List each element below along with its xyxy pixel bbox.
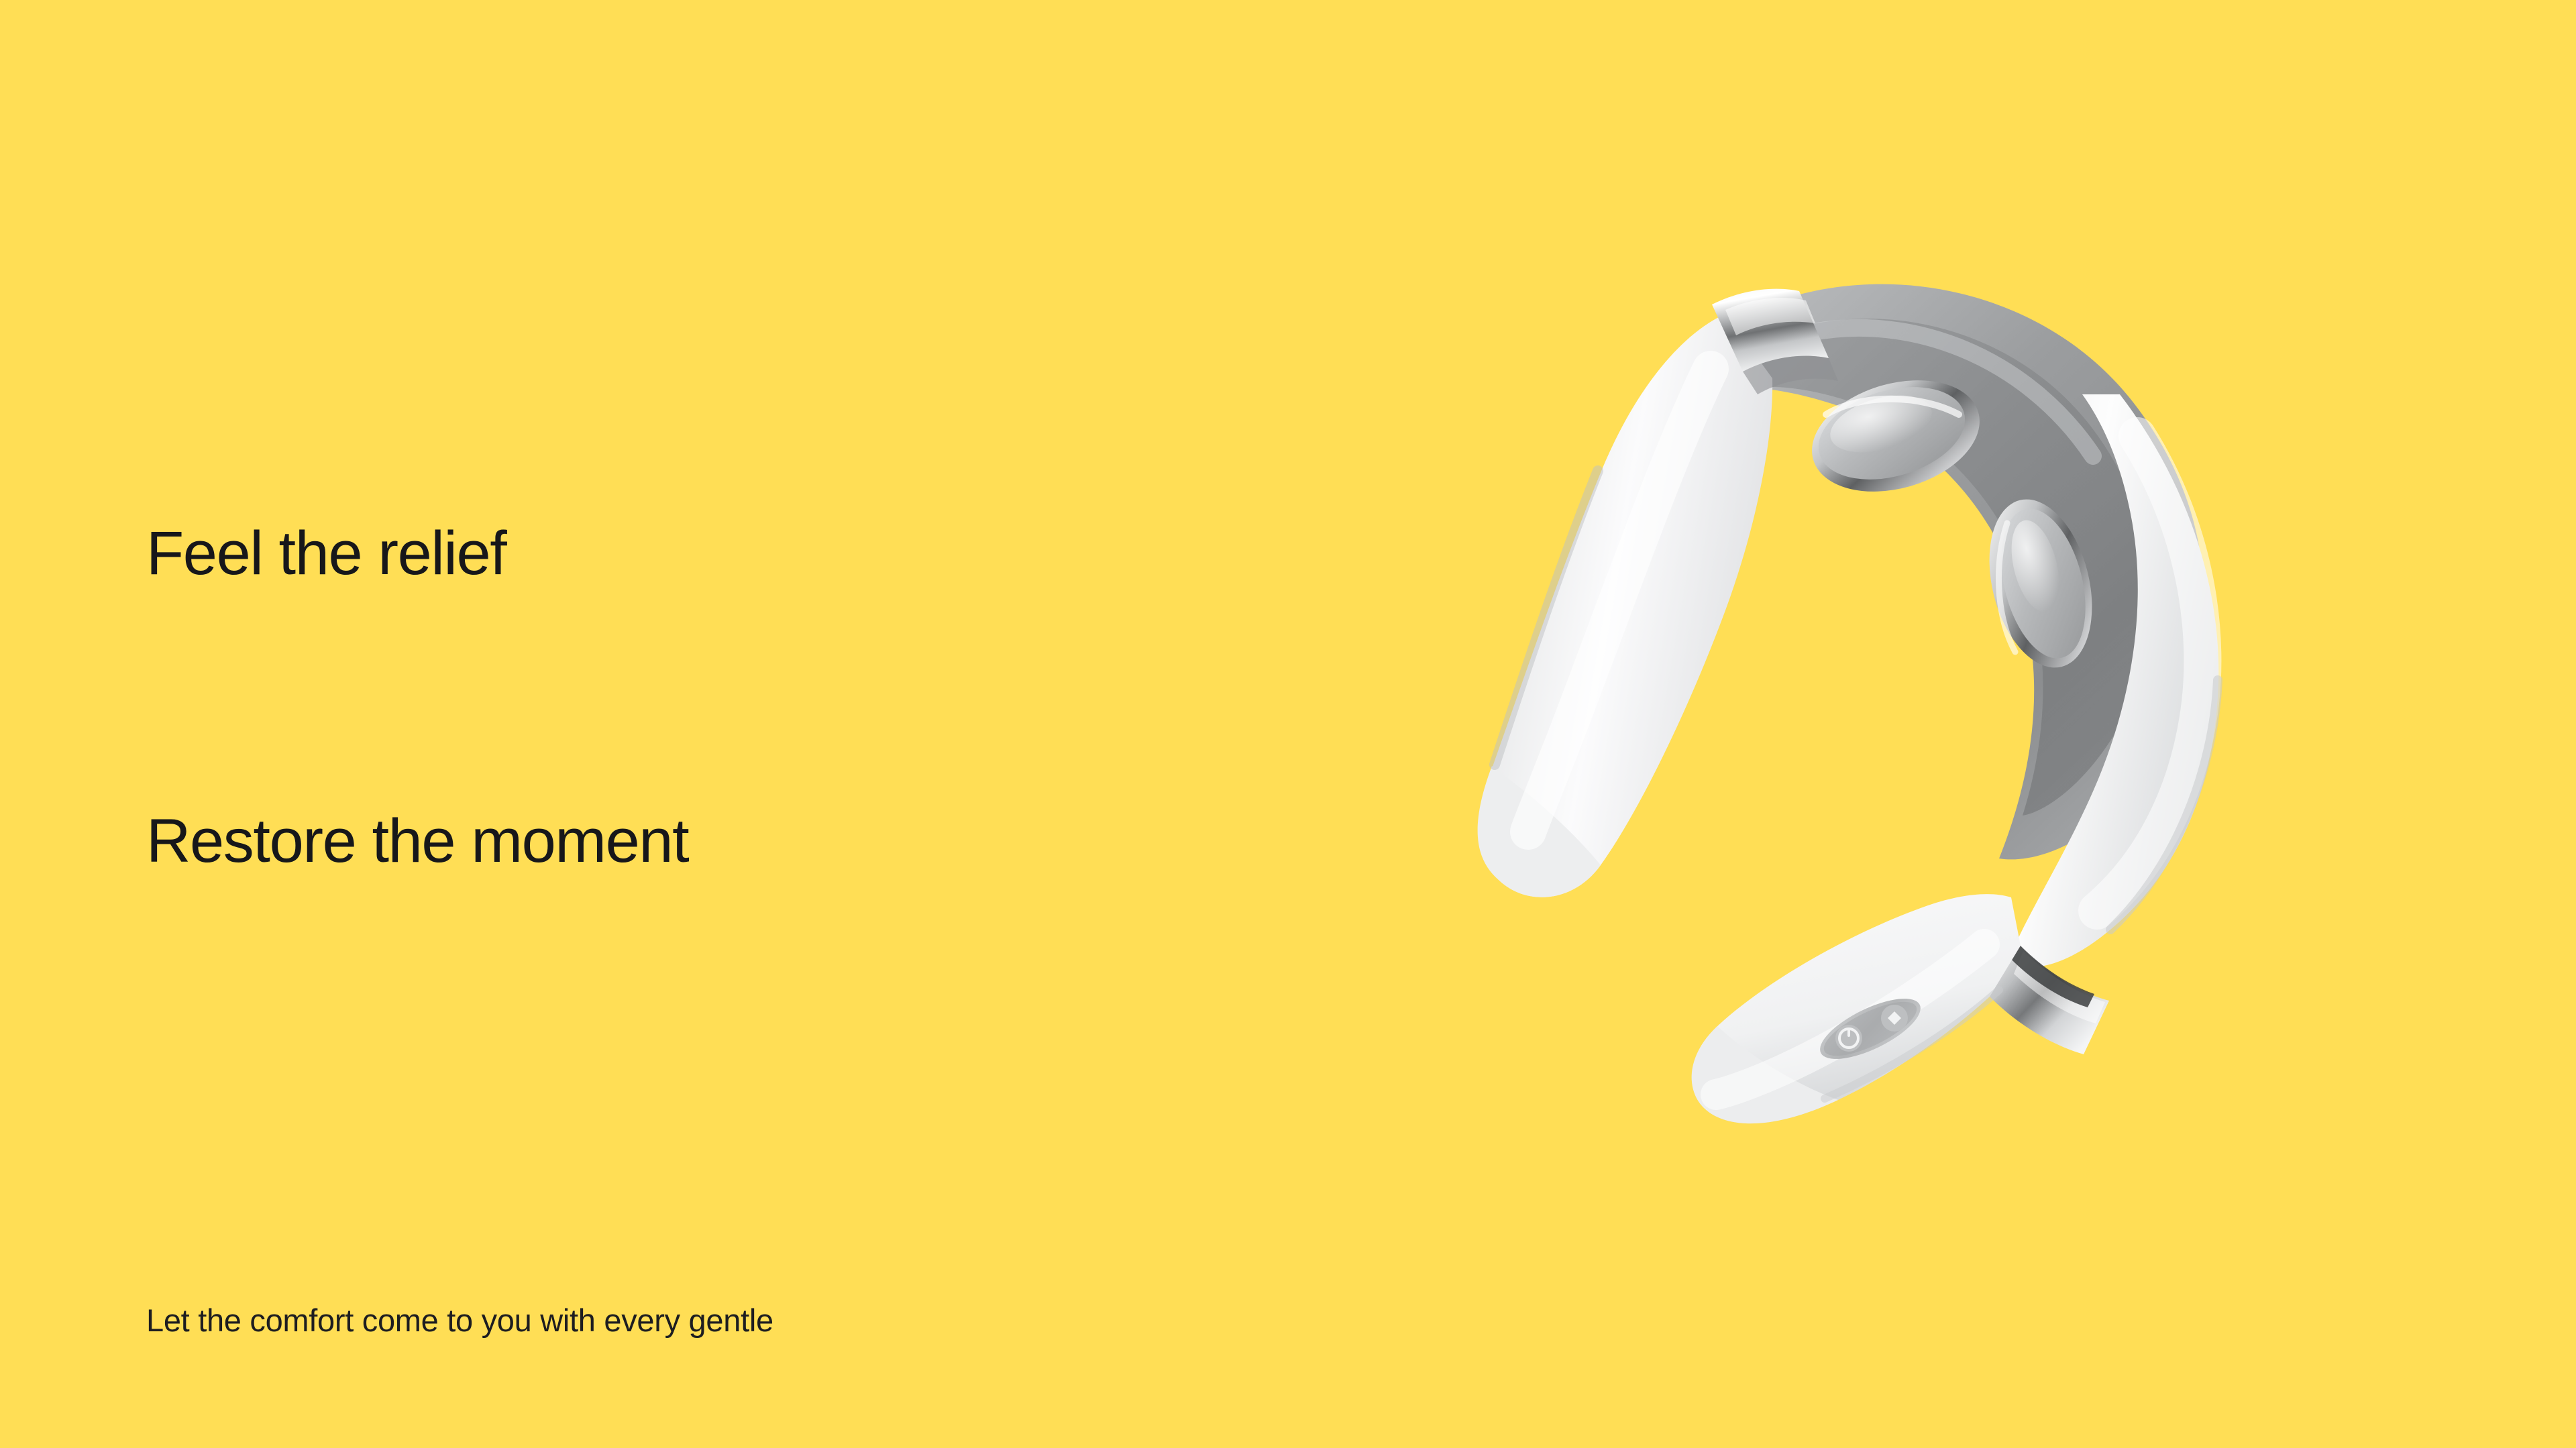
neck-massager-illustration: [1422, 235, 2308, 1147]
product-image: [1422, 235, 2308, 1147]
headline-line-2: Restore the moment: [146, 793, 1152, 889]
page-title: Feel the relief Restore the moment: [146, 314, 1152, 1081]
hero-text-column: Feel the relief Restore the moment Let t…: [146, 314, 1152, 1448]
body-line-1: Let the comfort come to you with every g…: [146, 1289, 1152, 1352]
power-button-icon[interactable]: [1835, 1025, 1862, 1052]
bottom-arm: [1692, 894, 2021, 1123]
hero-body-copy: Let the comfort come to you with every g…: [146, 1081, 1152, 1448]
hero-banner: Feel the relief Restore the moment Let t…: [0, 0, 2576, 1448]
headline-line-1: Feel the relief: [146, 506, 1152, 602]
upper-left-arm: [1478, 314, 1772, 897]
mode-button-icon[interactable]: [1881, 1005, 1908, 1032]
